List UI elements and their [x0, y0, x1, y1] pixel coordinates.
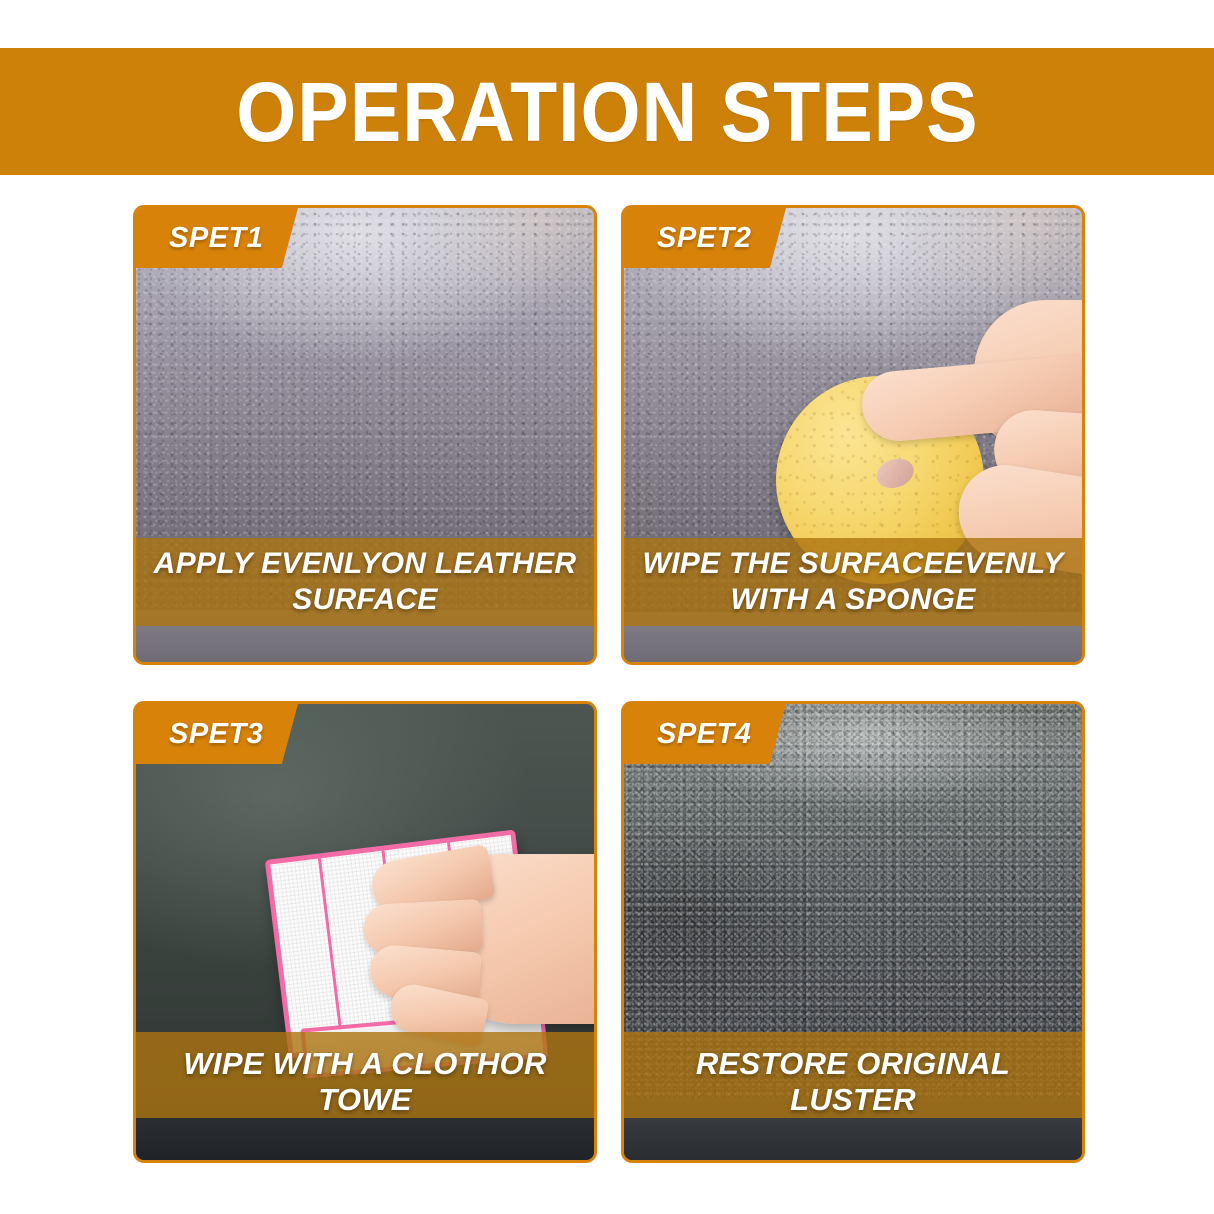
step-card-4[interactable]: SPET4 RESTORE ORIGINAL LUSTER	[621, 701, 1085, 1163]
fingernail	[873, 454, 918, 493]
step-tab-4: SPET4	[624, 704, 786, 764]
step-caption-band-3: WIPE WITH A CLOTHOR TOWE	[136, 1032, 594, 1118]
step-caption-band-1: APPLY EVENLYON LEATHER SURFACE	[136, 538, 594, 626]
step-caption-band-2: WIPE THE SURFACEEVENLY WITH A SPONGE	[624, 538, 1082, 626]
step-caption-3-line1: WIPE WITH A CLOTHOR TOWE	[183, 1046, 546, 1117]
step-tab-label-1: SPET1	[136, 222, 263, 255]
operation-steps-grid: SPET1 APPLY EVENLYON LEATHER SURFACE	[133, 205, 1085, 1163]
hand-wiping	[364, 844, 594, 1054]
step-caption-band-4: RESTORE ORIGINAL LUSTER	[624, 1032, 1082, 1118]
step-card-2[interactable]: SPET2 WIPE THE SURFACEEVENLY WITH A SPON…	[621, 205, 1085, 665]
step-tab-label-3: SPET3	[136, 718, 263, 751]
step-caption-4: RESTORE ORIGINAL LUSTER	[624, 1046, 1082, 1118]
step-caption-1-line1: APPLY EVENLYON LEATHER	[154, 547, 577, 580]
hand-holding-sponge	[862, 300, 1082, 550]
step-caption-2: WIPE THE SURFACEEVENLY WITH A SPONGE	[628, 546, 1077, 618]
step-caption-1-line2: SURFACE	[292, 583, 437, 616]
header-banner: OPERATION STEPS	[0, 48, 1214, 175]
step-caption-4-line1: RESTORE ORIGINAL LUSTER	[696, 1046, 1010, 1117]
towel-stripe	[318, 858, 344, 1047]
step-card-1[interactable]: SPET1 APPLY EVENLYON LEATHER SURFACE	[133, 205, 597, 665]
step-tab-1: SPET1	[136, 208, 298, 268]
step-caption-2-line1: WIPE THE SURFACEEVENLY	[642, 547, 1063, 580]
step-tab-2: SPET2	[624, 208, 786, 268]
step-caption-3: WIPE WITH A CLOTHOR TOWE	[136, 1046, 594, 1118]
step-caption-1: APPLY EVENLYON LEATHER SURFACE	[140, 546, 591, 618]
step-tab-label-2: SPET2	[624, 222, 751, 255]
step-card-3[interactable]: SPET3 WIPE WITH A CLOTHOR TOWE	[133, 701, 597, 1163]
page-title: OPERATION STEPS	[236, 70, 978, 154]
step-tab-label-4: SPET4	[624, 718, 751, 751]
step-tab-3: SPET3	[136, 704, 298, 764]
step-caption-2-line2: WITH A SPONGE	[730, 583, 975, 616]
